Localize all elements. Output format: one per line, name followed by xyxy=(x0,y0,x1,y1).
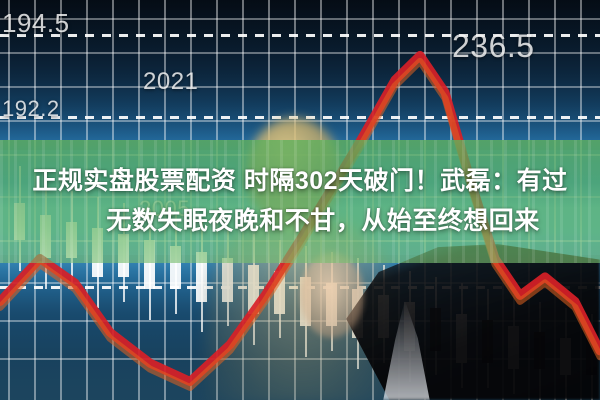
chart-axis-label: 192.2 xyxy=(2,96,60,122)
headline-line-1: 正规实盘股票配资 时隔302天破门！武磊：有过 xyxy=(0,161,600,201)
headline-text: 正规实盘股票配资 时隔302天破门！武磊：有过 无数失眠夜晚和不甘，从始至终想回… xyxy=(0,161,600,241)
chart-axis-label: 2021 xyxy=(143,68,198,96)
thumbnail-image: 194.5192.22021236.52005 正规实盘股票配资 时隔302天破… xyxy=(0,0,600,400)
chart-axis-label: 194.5 xyxy=(2,8,70,39)
headline-line-2: 无数失眠夜晚和不甘，从始至终想回来 xyxy=(0,201,600,241)
chart-axis-label: 236.5 xyxy=(452,28,535,65)
